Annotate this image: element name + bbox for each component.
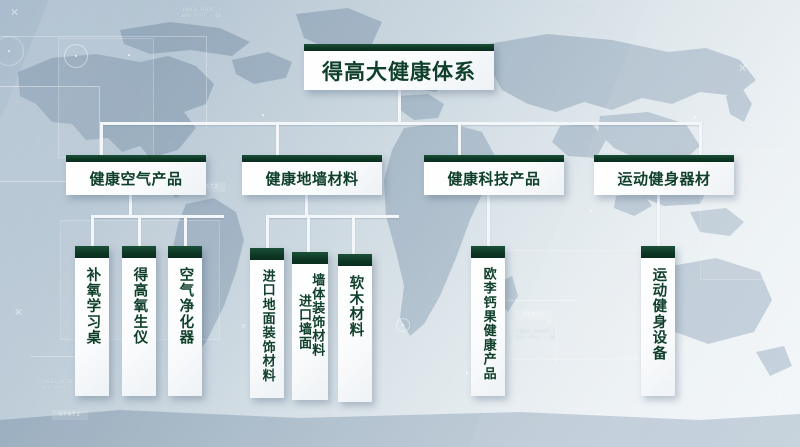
node-leaf-label: 空气净化器 xyxy=(178,267,193,346)
node-leaf-label: 得高氧生仪 xyxy=(132,267,147,346)
node-leaf-oxygen-desk[interactable]: 补氧学习桌 xyxy=(75,246,109,396)
node-branch-health-tech[interactable]: 健康科技产品 xyxy=(424,155,564,195)
node-cap xyxy=(594,155,734,162)
connector-root-stem xyxy=(398,90,401,123)
node-leaf-imported-wall[interactable]: 墙体装饰材料 进口墙面 xyxy=(292,252,328,400)
diagram-canvas: ✕ ✕ ✕ ✕ ✕ INDEX_POINT_1 NAV SYST - OK IN… xyxy=(0,0,800,447)
node-body: 墙体装饰材料 进口墙面 xyxy=(292,264,328,400)
node-leaf-label: 软木材料 xyxy=(348,275,363,338)
connector-level2-bus xyxy=(100,122,702,125)
node-leaf-ouli-calcium[interactable]: 欧李钙果健康产品 xyxy=(471,246,505,396)
node-root[interactable]: 得高大健康体系 xyxy=(304,44,494,90)
node-leaf-label: 补氧学习桌 xyxy=(85,267,100,346)
node-body: 运动健身器材 xyxy=(594,162,734,195)
node-leaf-air-purifier[interactable]: 空气净化器 xyxy=(168,246,202,396)
node-root-label: 得高大健康体系 xyxy=(322,56,476,86)
node-branch-fitness[interactable]: 运动健身器材 xyxy=(594,155,734,195)
node-body: 补氧学习桌 xyxy=(75,258,109,396)
connector-b2-l1 xyxy=(266,215,269,250)
node-cap xyxy=(168,246,202,258)
node-cap xyxy=(424,155,564,162)
node-branch-label: 运动健身器材 xyxy=(617,168,710,189)
node-leaf-label: 运动健身设备 xyxy=(651,267,666,361)
node-cap xyxy=(292,252,328,264)
node-branch-label: 健康空气产品 xyxy=(89,168,182,189)
node-branch-label: 健康科技产品 xyxy=(447,168,540,189)
node-cap xyxy=(338,254,372,266)
node-body: 进口地面装饰材料 xyxy=(250,260,284,398)
node-body: 健康科技产品 xyxy=(424,162,564,195)
node-cap xyxy=(641,246,675,258)
node-body: 软木材料 xyxy=(338,266,372,402)
connector-drop-b2 xyxy=(276,122,279,156)
connector-b2-stem xyxy=(305,195,308,217)
connector-b3-l1 xyxy=(487,195,490,248)
node-leaf-label-col1: 进口墙面 xyxy=(297,264,310,400)
node-body: 欧李钙果健康产品 xyxy=(471,258,505,396)
node-body: 得高氧生仪 xyxy=(122,258,156,396)
node-branch-health-air[interactable]: 健康空气产品 xyxy=(66,155,206,195)
node-body: 健康地墙材料 xyxy=(242,162,382,195)
node-branch-label: 健康地墙材料 xyxy=(265,168,358,189)
node-leaf-oxygen-generator[interactable]: 得高氧生仪 xyxy=(122,246,156,396)
node-leaf-label-col2: 墙体装饰材料 xyxy=(310,264,323,400)
node-cap xyxy=(242,155,382,162)
node-cap xyxy=(471,246,505,258)
connector-b1-stem xyxy=(129,195,132,217)
node-cap xyxy=(250,248,284,260)
connector-b1-bus xyxy=(91,215,224,218)
node-body: 得高大健康体系 xyxy=(304,51,494,90)
connector-drop-b3 xyxy=(458,122,461,156)
node-leaf-label: 进口地面装饰材料 xyxy=(260,269,273,383)
node-cap xyxy=(75,246,109,258)
node-body: 运动健身设备 xyxy=(641,258,675,396)
connector-b2-bus xyxy=(266,215,399,218)
node-body: 健康空气产品 xyxy=(66,162,206,195)
node-body: 空气净化器 xyxy=(168,258,202,396)
node-cap xyxy=(304,44,494,51)
connector-b4-l1 xyxy=(657,215,660,248)
node-leaf-fitness-equipment[interactable]: 运动健身设备 xyxy=(641,246,675,396)
connector-drop-b4 xyxy=(699,122,702,156)
node-cap xyxy=(66,155,206,162)
node-leaf-cork-material[interactable]: 软木材料 xyxy=(338,254,372,402)
node-leaf-imported-floor[interactable]: 进口地面装饰材料 xyxy=(250,248,284,398)
node-cap xyxy=(122,246,156,258)
connector-b1-l2 xyxy=(138,215,141,248)
connector-b2-l2 xyxy=(307,215,310,254)
node-leaf-label: 欧李钙果健康产品 xyxy=(481,267,494,381)
connector-b2-l3 xyxy=(352,215,355,256)
connector-drop-b1 xyxy=(100,122,103,156)
connector-b1-l3 xyxy=(184,215,187,248)
node-branch-floor-wall[interactable]: 健康地墙材料 xyxy=(242,155,382,195)
connector-b4-stem xyxy=(657,195,660,217)
connector-b1-l1 xyxy=(91,215,94,248)
